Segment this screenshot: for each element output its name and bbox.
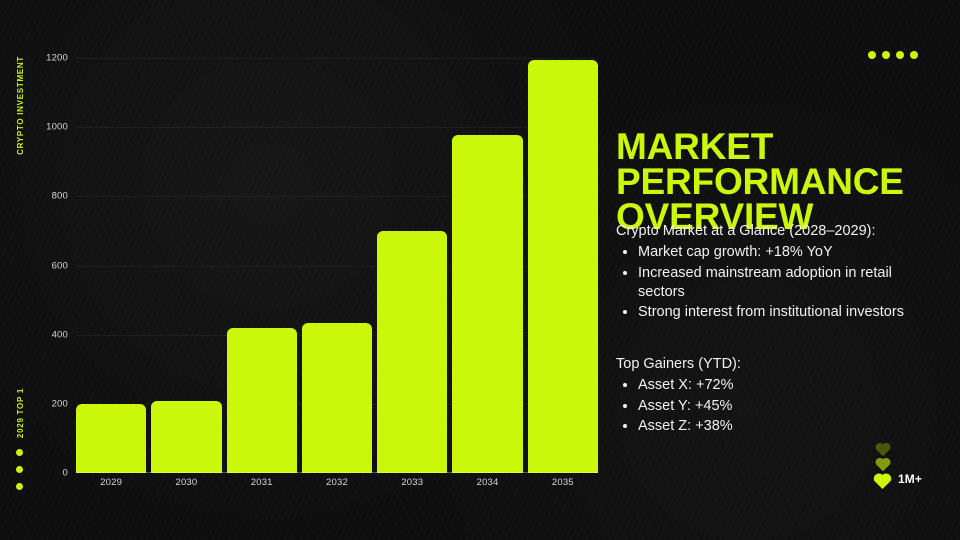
list-item: Market cap growth: +18% YoY: [638, 243, 906, 262]
gainers-heading: Top Gainers (YTD):: [616, 355, 906, 374]
x-axis-tick-label: 2032: [302, 477, 372, 488]
bar[interactable]: [377, 231, 447, 473]
decor-dot-3: [896, 51, 904, 59]
y-axis-tick-label: 400: [52, 329, 68, 340]
list-item: Asset Z: +38%: [638, 417, 906, 436]
plot-area: 020040060080010001200: [76, 58, 598, 473]
page-title-line-1: MARKET: [616, 129, 916, 164]
bar-column: [227, 58, 297, 473]
list-item: Strong interest from institutional inves…: [638, 303, 906, 322]
y-axis-tick-label: 600: [52, 260, 68, 271]
heart-icon[interactable]: [872, 470, 893, 490]
x-axis-line: [76, 472, 598, 473]
glance-list: Market cap growth: +18% YoYIncreased mai…: [616, 243, 906, 322]
bar-column: [76, 58, 146, 473]
bar[interactable]: [227, 328, 297, 473]
page-title: MARKET PERFORMANCE OVERVIEW: [616, 129, 916, 234]
y-axis-tick-label: 1200: [46, 53, 68, 64]
y-axis-tick-label: 800: [52, 191, 68, 202]
x-axis-tick-label: 2033: [377, 477, 447, 488]
y-axis-tick-label: 1000: [46, 122, 68, 133]
bar[interactable]: [151, 401, 221, 473]
bar-column: [528, 58, 598, 473]
like-widget[interactable]: 1M+: [866, 440, 956, 490]
bar-column: [377, 58, 447, 473]
decor-dot-row: [868, 51, 918, 59]
rail-dot-3: [16, 483, 23, 490]
decor-dot-2: [882, 51, 890, 59]
bar[interactable]: [528, 60, 598, 473]
bar[interactable]: [302, 323, 372, 473]
slide-canvas: CRYPTO INVESTMENT 2029 TOP 1 02004006008…: [0, 0, 960, 540]
x-axis-tick-label: 2029: [76, 477, 146, 488]
list-item: Asset Y: +45%: [638, 397, 906, 416]
bar-chart: 020040060080010001200 202920302031203220…: [46, 0, 612, 540]
gainers-section: Top Gainers (YTD): Asset X: +72%Asset Y:…: [616, 355, 906, 437]
list-item: Asset X: +72%: [638, 376, 906, 395]
y-axis-tick-label: 0: [63, 468, 68, 479]
x-axis-tick-label: 2035: [528, 477, 598, 488]
rail-dot-2: [16, 466, 23, 473]
like-count: 1M+: [898, 472, 922, 486]
left-rail: CRYPTO INVESTMENT 2029 TOP 1: [0, 0, 46, 540]
list-item: Increased mainstream adoption in retail …: [638, 264, 906, 303]
x-axis-labels: 2029203020312032203320342035: [76, 477, 598, 488]
decor-dot-4: [910, 51, 918, 59]
rail-dot-1: [16, 449, 23, 456]
content-panel: MARKET PERFORMANCE OVERVIEW Crypto Marke…: [616, 0, 960, 540]
y-axis-tick-label: 200: [52, 398, 68, 409]
bar-series: [76, 58, 598, 473]
x-axis-tick-label: 2034: [452, 477, 522, 488]
bar-column: [452, 58, 522, 473]
rail-badge-label: 2029 TOP 1: [16, 388, 25, 438]
glance-section: Crypto Market at a Glance (2028–2029): M…: [616, 222, 906, 323]
bar[interactable]: [452, 135, 522, 473]
y-axis-title: CRYPTO INVESTMENT: [16, 56, 25, 155]
x-axis-tick-label: 2031: [227, 477, 297, 488]
glance-heading: Crypto Market at a Glance (2028–2029):: [616, 222, 906, 241]
bar[interactable]: [76, 404, 146, 473]
decor-dot-1: [868, 51, 876, 59]
bar-column: [302, 58, 372, 473]
x-axis-tick-label: 2030: [151, 477, 221, 488]
gainers-list: Asset X: +72%Asset Y: +45%Asset Z: +38%: [616, 376, 906, 436]
page-title-line-2: PERFORMANCE: [616, 164, 916, 199]
bar-column: [151, 58, 221, 473]
